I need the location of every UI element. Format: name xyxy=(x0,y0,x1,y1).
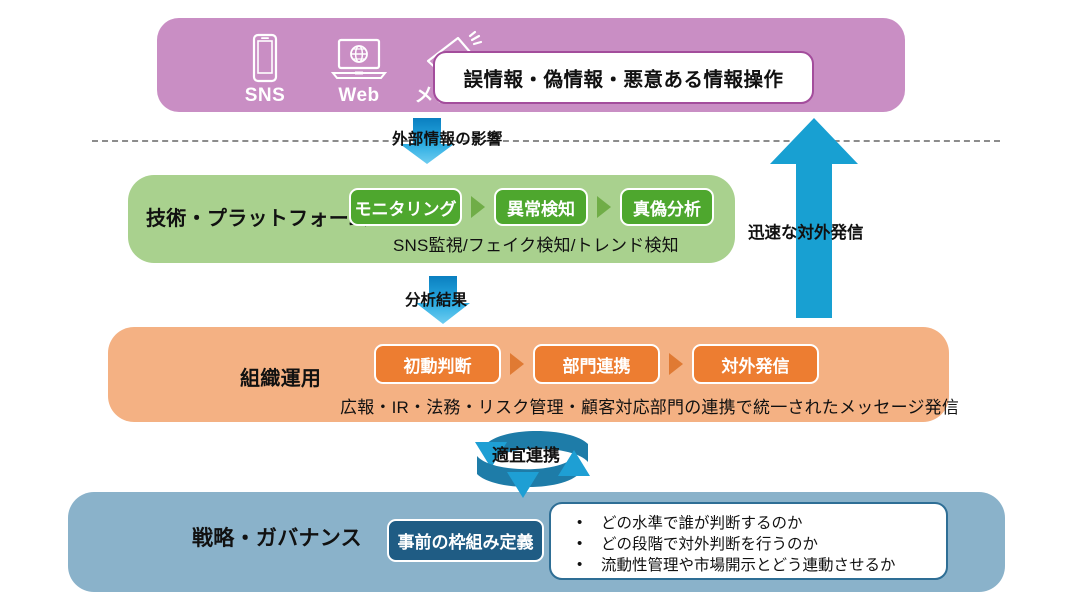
band-title-organization: 組織運用 xyxy=(240,362,321,391)
step-pill-label: 対外発信 xyxy=(722,352,790,377)
misinformation-alert-box: 誤情報・偽情報・悪意ある情報操作 xyxy=(433,51,814,104)
band-organization: 組織運用 初動判断 部門連携 対外発信 広報・IR・法務・リスク管理・顧客対応部… xyxy=(108,327,949,422)
laptop-globe-icon xyxy=(331,31,387,83)
boundary-divider xyxy=(92,140,1000,142)
analysis-result-label: 分析結果 xyxy=(405,288,467,310)
misinformation-alert-text: 誤情報・偽情報・悪意ある情報操作 xyxy=(463,63,783,92)
governance-questions-box: どの水準で誰が判断するのか どの段階で対外判断を行うのか 流動性管理や市場開示と… xyxy=(549,502,948,580)
step-chain-organization: 初動判断 部門連携 対外発信 xyxy=(374,344,819,384)
band-technology: 技術・プラットフォーム モニタリング 異常検知 真偽分析 SNS監視/フェイク検… xyxy=(128,175,735,263)
step-pill-authenticity-analysis[interactable]: 真偽分析 xyxy=(620,188,714,226)
band-caption-organization: 広報・IR・法務・リスク管理・顧客対応部門の連携で統一されたメッセージ発信 xyxy=(340,393,959,418)
diagram-canvas: SNS Web xyxy=(0,0,1075,601)
step-pill-label: 事前の枠組み定義 xyxy=(398,528,534,553)
external-information-banner: SNS Web xyxy=(157,18,905,112)
boundary-divider-label: 外部情報の影響 xyxy=(392,127,503,149)
band-caption-technology: SNS監視/フェイク検知/トレンド検知 xyxy=(393,231,679,256)
step-pill-label: 部門連携 xyxy=(563,352,631,377)
step-pill-initial-judgement[interactable]: 初動判断 xyxy=(374,344,501,384)
chevron-right-icon xyxy=(510,353,524,375)
outbound-communication-label: 迅速な対外発信 xyxy=(748,219,864,243)
step-pill-label: モニタリング xyxy=(355,195,457,220)
source-sns: SNS xyxy=(229,31,301,107)
band-title-governance: 戦略・ガバナンス xyxy=(192,522,362,552)
step-pill-label: 異常検知 xyxy=(507,195,575,220)
step-pill-label: 初動判断 xyxy=(404,352,472,377)
source-label: Web xyxy=(338,85,379,107)
governance-questions-list: どの水準で誰が判断するのか どの段階で対外判断を行うのか 流動性管理や市場開示と… xyxy=(573,513,932,576)
list-item: 流動性管理や市場開示とどう連動させるか xyxy=(573,555,932,576)
chevron-right-icon xyxy=(597,196,611,218)
smartphone-icon xyxy=(251,31,279,83)
list-item: どの水準で誰が判断するのか xyxy=(573,513,932,534)
chevron-right-icon xyxy=(669,353,683,375)
band-title-technology: 技術・プラットフォーム xyxy=(146,202,369,231)
step-pill-monitoring[interactable]: モニタリング xyxy=(349,188,462,226)
list-item: どの段階で対外判断を行うのか xyxy=(573,534,932,555)
chevron-right-icon xyxy=(471,196,485,218)
step-pill-external-communication[interactable]: 対外発信 xyxy=(692,344,819,384)
source-web: Web xyxy=(323,31,395,107)
step-chain-technology: モニタリング 異常検知 真偽分析 xyxy=(349,188,714,226)
mutual-coordination-label: 適宜連携 xyxy=(492,441,560,466)
step-pill-department-coordination[interactable]: 部門連携 xyxy=(533,344,660,384)
step-pill-predefined-framework[interactable]: 事前の枠組み定義 xyxy=(387,519,544,562)
step-pill-label: 真偽分析 xyxy=(633,195,701,220)
source-label: SNS xyxy=(245,85,286,107)
step-pill-anomaly-detection[interactable]: 異常検知 xyxy=(494,188,588,226)
